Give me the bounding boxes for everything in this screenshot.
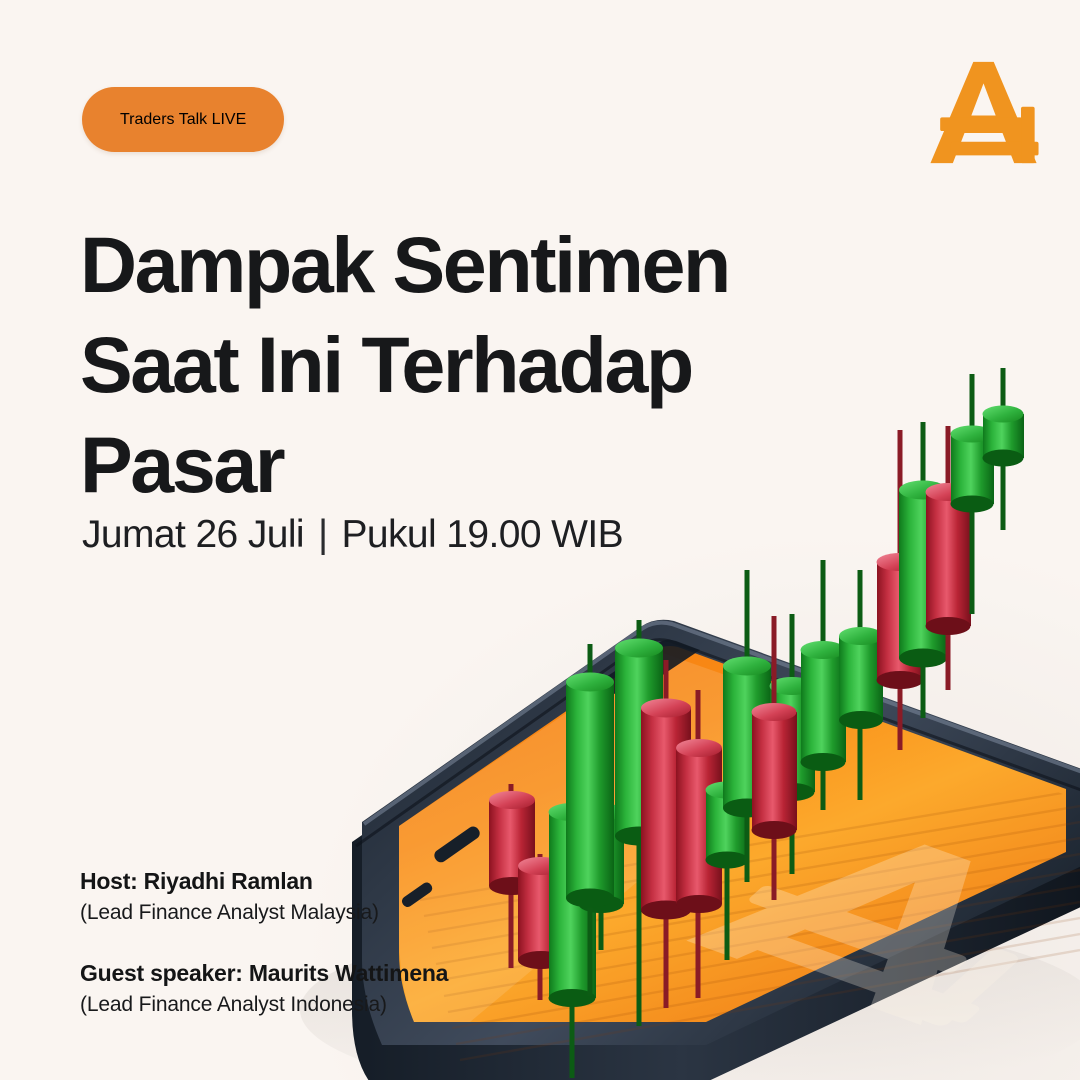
headline-line-1: Dampak Sentimen: [80, 215, 840, 315]
schedule-time: Pukul 19.00 WIB: [342, 513, 623, 557]
schedule-date: Jumat 26 Juli: [82, 513, 304, 557]
live-badge-label: Traders Talk LIVE: [120, 111, 246, 129]
credit-guest-role: (Lead Finance Analyst Indonesia): [80, 990, 550, 1020]
credit-guest-name: Guest speaker: Maurits Wattimena: [80, 958, 550, 988]
credits-section: Host: Riyadhi Ramlan (Lead Finance Analy…: [80, 866, 550, 1020]
schedule-line: Jumat 26 Juli | Pukul 19.00 WIB: [82, 513, 623, 557]
credit-host-name: Host: Riyadhi Ramlan: [80, 866, 550, 896]
promo-poster: Traders Talk LIVE Dampak Sentimen Saat I…: [0, 0, 1080, 1080]
credit-guest: Guest speaker: Maurits Wattimena (Lead F…: [80, 958, 550, 1020]
page-title: Dampak Sentimen Saat Ini Terhadap Pasar: [80, 215, 840, 515]
headline-line-3: Pasar: [80, 415, 840, 515]
brand-logo-icon: [925, 58, 1043, 170]
schedule-separator: |: [316, 513, 330, 557]
credit-host: Host: Riyadhi Ramlan (Lead Finance Analy…: [80, 866, 550, 928]
live-badge[interactable]: Traders Talk LIVE: [82, 87, 284, 152]
headline-line-2: Saat Ini Terhadap: [80, 315, 840, 415]
credit-host-role: (Lead Finance Analyst Malaysia): [80, 898, 550, 928]
